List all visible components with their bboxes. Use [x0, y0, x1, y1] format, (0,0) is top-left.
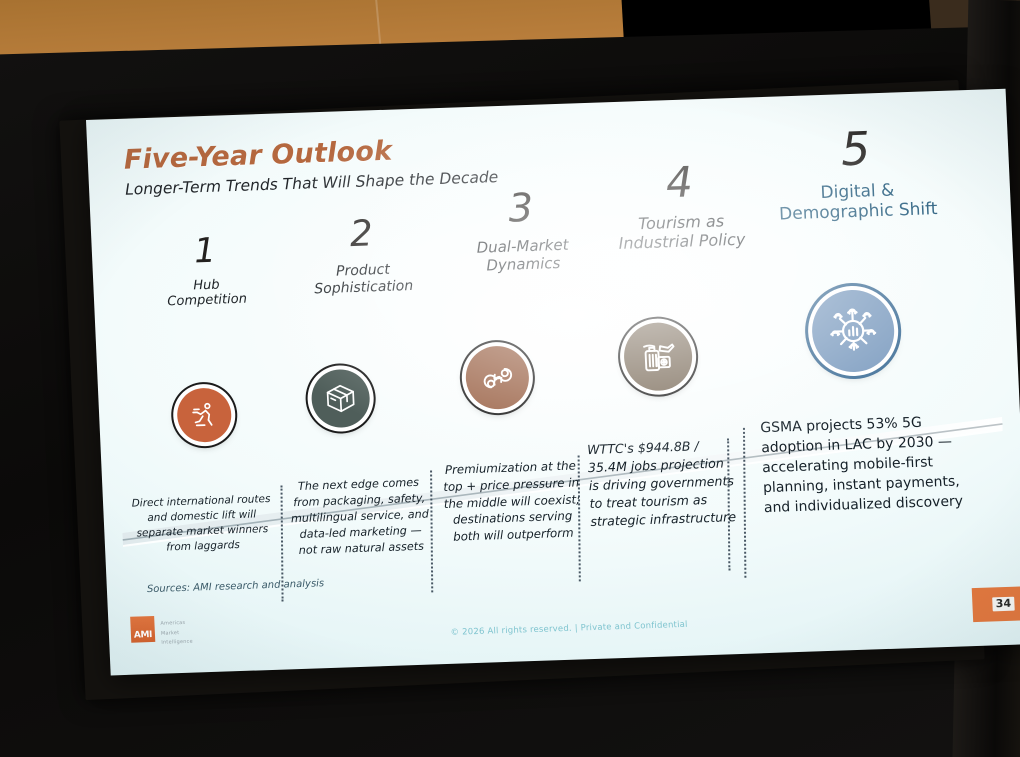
column-4-number: 4: [588, 159, 770, 207]
photo-scene: Five-Year Outlook Longer-Term Trends Tha…: [0, 0, 1020, 757]
column-3-number: 3: [438, 186, 605, 231]
column-5-icon-circle[interactable]: [810, 289, 896, 374]
sources-note: Sources: AMI research and analysis: [147, 578, 325, 595]
package-box-icon: [323, 381, 358, 416]
page-number: 34: [992, 597, 1014, 611]
column-4[interactable]: 4 Tourism as Industrial Policy: [588, 159, 772, 255]
column-5[interactable]: 5 Digital & Demographic Shift: [747, 122, 966, 225]
column-3-label: Dual-Market Dynamics: [440, 235, 606, 276]
column-divider-5: [743, 428, 746, 578]
column-5-number: 5: [747, 122, 964, 175]
column-3[interactable]: 3 Dual-Market Dynamics: [438, 186, 607, 276]
column-4-label-line2: Industrial Policy: [592, 230, 773, 255]
column-3-icon-circle[interactable]: [464, 345, 530, 410]
column-1-icon-circle[interactable]: [176, 387, 232, 443]
dual-cycle-gears-icon: [478, 358, 518, 397]
column-1[interactable]: 1 Hub Competition: [129, 231, 282, 311]
column-4-body: WTTC's $944.8B / 35.4M jobs projection i…: [587, 436, 739, 530]
column-4-icon-circle[interactable]: [623, 322, 694, 392]
column-5-label: Digital & Demographic Shift: [750, 178, 967, 225]
column-2-body: The next edge comes from packaging, safe…: [288, 475, 431, 559]
network-analytics-icon: [826, 304, 880, 358]
column-1-label: Hub Competition: [131, 275, 282, 311]
page-number-badge: 34: [972, 586, 1020, 622]
column-2-icon-circle[interactable]: [310, 369, 371, 429]
column-2-label: Product Sophistication: [283, 260, 444, 298]
column-2[interactable]: 2 Product Sophistication: [281, 214, 444, 298]
luggage-travel-icon: [637, 335, 680, 377]
copyright-notice: © 2026 All rights reserved. | Private an…: [109, 608, 1020, 649]
column-3-body: Premiumization at the top + price pressu…: [438, 457, 587, 546]
column-5-body: GSMA projects 53% 5G adoption in LAC by …: [760, 412, 976, 518]
column-4-label: Tourism as Industrial Policy: [591, 211, 773, 255]
slide-title: Five-Year Outlook: [123, 136, 393, 176]
column-1-body: Direct international routes and domestic…: [131, 492, 274, 556]
runner-icon: [188, 399, 221, 432]
column-2-number: 2: [281, 214, 443, 255]
projected-slide: Five-Year Outlook Longer-Term Trends Tha…: [86, 89, 1020, 680]
column-1-number: 1: [129, 231, 280, 270]
